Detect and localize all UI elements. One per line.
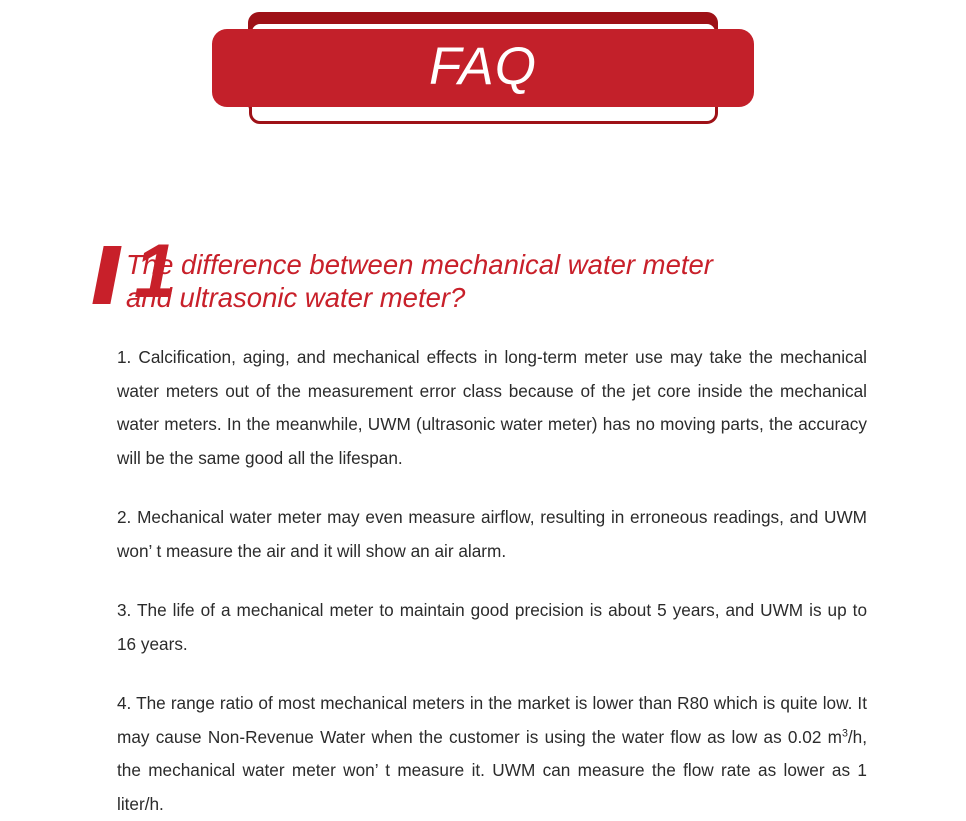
question-heading: The difference between mechanical water …: [118, 238, 966, 314]
question-header: 1 The difference between mechanical wate…: [0, 238, 966, 318]
answer-paragraph-3: 3. The life of a mechanical meter to mai…: [117, 594, 867, 661]
question-number: 1: [0, 238, 118, 318]
answer-paragraph-2: 2. Mechanical water meter may even measu…: [117, 501, 867, 568]
question-heading-line-2: and ultrasonic water meter?: [126, 282, 465, 313]
question-heading-line-1: The difference between mechanical water …: [126, 249, 713, 280]
answer-paragraph-4: 4. The range ratio of most mechanical me…: [117, 687, 867, 821]
banner-front-plate: FAQ: [212, 29, 754, 107]
answer-paragraph-1: 1. Calcification, aging, and mechanical …: [117, 341, 867, 475]
answer-paragraph-4-part-1: 4. The range ratio of most mechanical me…: [117, 693, 867, 747]
answer-body: 1. Calcification, aging, and mechanical …: [117, 341, 867, 821]
banner-title: FAQ: [429, 40, 537, 97]
faq-banner: FAQ: [0, 0, 966, 140]
